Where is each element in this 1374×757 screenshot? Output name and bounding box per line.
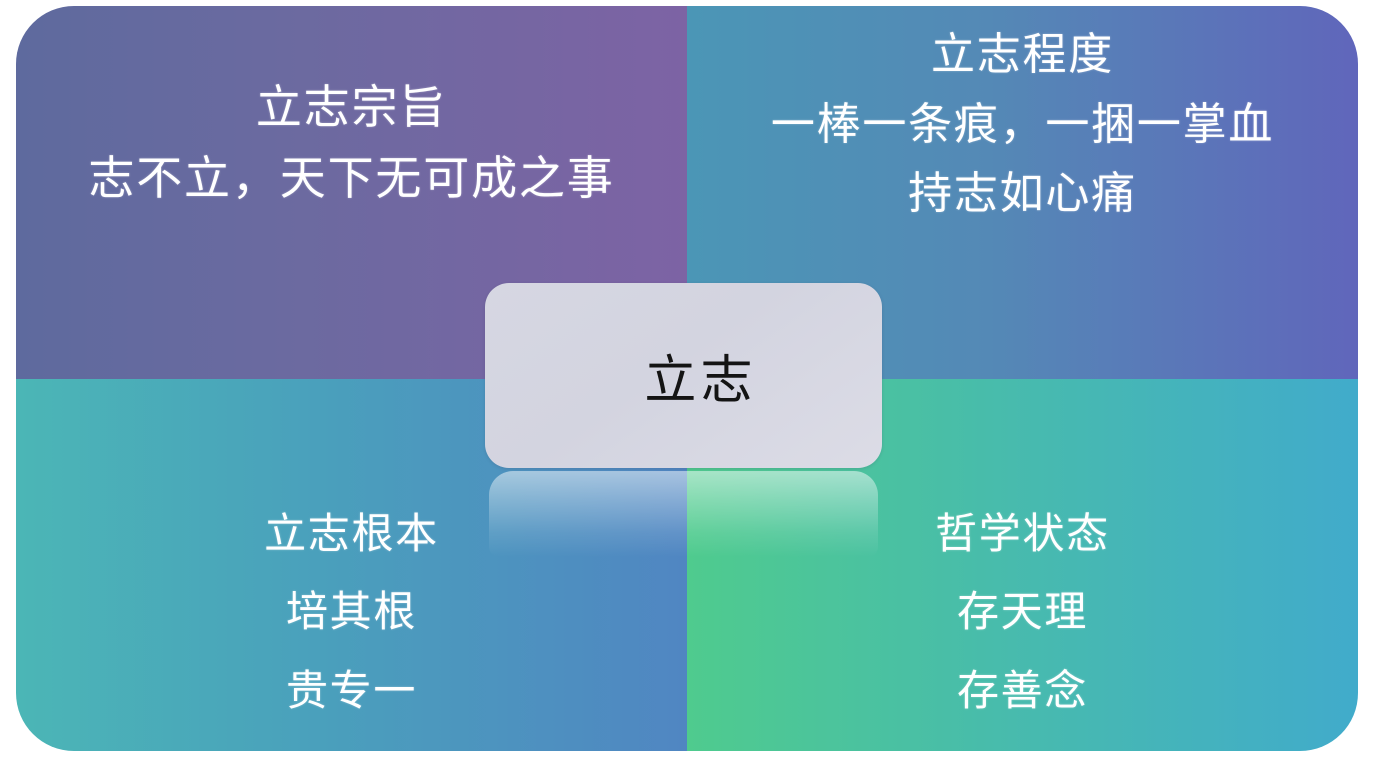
quadrant-bottom-right-line-3: 存善念 [935, 652, 1110, 731]
center-node-label: 立志 [610, 338, 756, 413]
quadrant-bottom-right-line-1: 哲学状态 [935, 495, 1110, 574]
quadrant-bottom-left-line-1: 立志根本 [264, 495, 439, 574]
quadrant-top-right-text: 立志程度 一棒一条痕，一捆一掌血 持志如心痛 [771, 20, 1274, 229]
quadrant-bottom-left-line-3: 贵专一 [264, 652, 439, 731]
quadrant-bottom-left-line-2: 培其根 [264, 573, 439, 652]
quadrant-top-right-line-1: 立志程度 [771, 20, 1274, 90]
quadrant-top-left-line-2: 志不立，天下无可成之事 [88, 143, 614, 214]
diagram-canvas: 立志宗旨 志不立，天下无可成之事 立志程度 一棒一条痕，一捆一掌血 持志如心痛 … [0, 0, 1374, 757]
quadrant-top-left-text: 立志宗旨 志不立，天下无可成之事 [88, 72, 614, 215]
quadrant-bottom-right-line-2: 存天理 [935, 573, 1110, 652]
quadrant-top-left-line-1: 立志宗旨 [88, 72, 614, 143]
center-node[interactable]: 立志 [485, 283, 882, 468]
quadrant-bottom-left-text: 立志根本 培其根 贵专一 [264, 495, 439, 732]
quadrant-top-right-line-2: 一棒一条痕，一捆一掌血 [771, 90, 1274, 160]
quadrant-top-right-line-3: 持志如心痛 [771, 159, 1274, 229]
quadrant-bottom-right-text: 哲学状态 存天理 存善念 [935, 495, 1110, 732]
